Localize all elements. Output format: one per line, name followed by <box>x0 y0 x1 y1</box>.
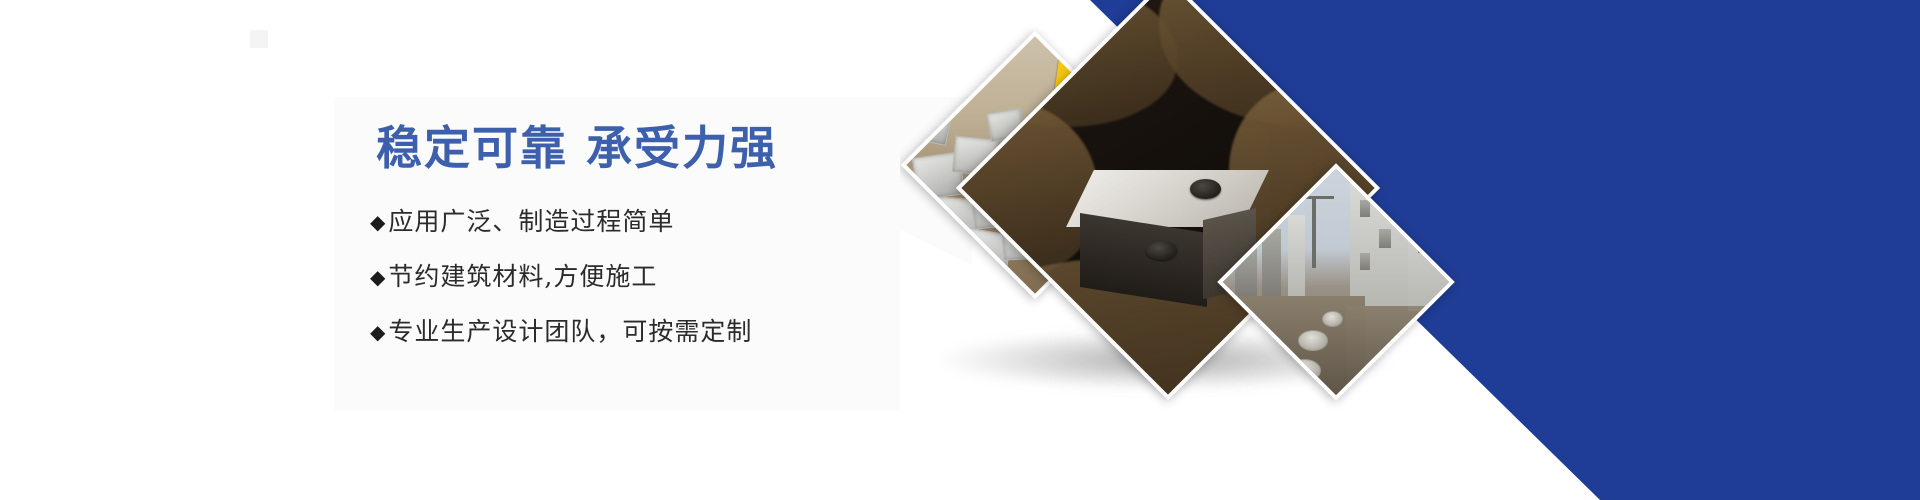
feature-item-label: 专业生产设计团队，可按需定制 <box>388 317 752 346</box>
feature-item: ◆应用广泛、制造过程简单 <box>370 209 950 234</box>
diamond-bullet-icon: ◆ <box>370 265 386 289</box>
banner-graphic <box>900 0 1920 500</box>
feature-list: ◆应用广泛、制造过程简单 ◆节约建筑材料,方便施工 ◆专业生产设计团队，可按需定… <box>370 209 950 344</box>
feature-item-label: 应用广泛、制造过程简单 <box>388 207 674 236</box>
feature-item-label: 节约建筑材料,方便施工 <box>388 262 657 291</box>
decorative-mark <box>250 30 268 48</box>
diamond-bullet-icon: ◆ <box>370 210 386 234</box>
headline: 稳定可靠 承受力强 <box>376 125 778 171</box>
feature-item: ◆节约建筑材料,方便施工 <box>370 264 950 289</box>
text-panel: 稳定可靠 承受力强 ◆应用广泛、制造过程简单 ◆节约建筑材料,方便施工 ◆专业生… <box>334 97 972 411</box>
diamond-bullet-icon: ◆ <box>370 320 386 344</box>
promo-banner: 稳定可靠 承受力强 ◆应用广泛、制造过程简单 ◆节约建筑材料,方便施工 ◆专业生… <box>0 0 1920 500</box>
feature-item: ◆专业生产设计团队，可按需定制 <box>370 319 950 344</box>
